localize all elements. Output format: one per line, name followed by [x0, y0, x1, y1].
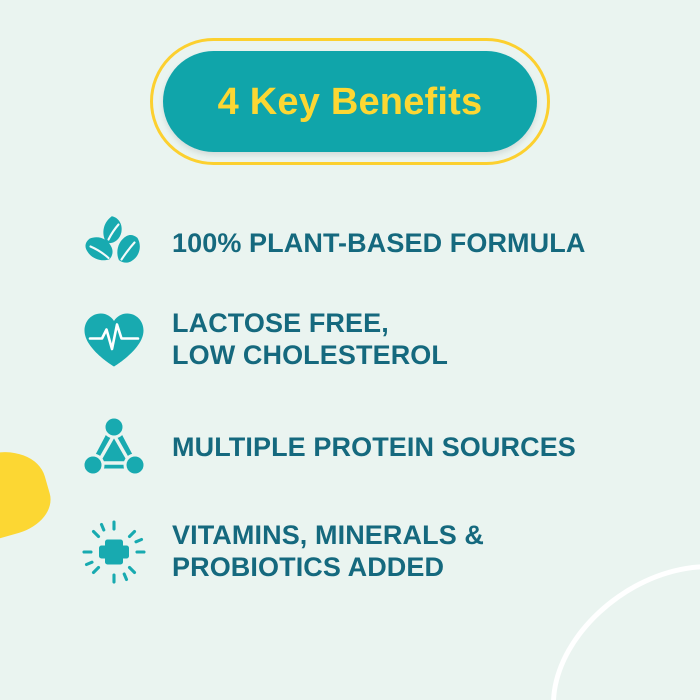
title-badge: 4 Key Benefits	[150, 38, 550, 165]
list-item: LACTOSE FREE, LOW CHOLESTEROL	[78, 304, 448, 376]
title-badge-pill: 4 Key Benefits	[163, 51, 537, 152]
list-item-label: MULTIPLE PROTEIN SOURCES	[172, 432, 576, 464]
white-ellipse-decoration	[510, 520, 700, 700]
sparkle-plus-icon	[78, 516, 150, 588]
molecule-triangle-icon	[78, 412, 150, 484]
list-item: VITAMINS, MINERALS & PROBIOTICS ADDED	[78, 516, 484, 588]
list-item-label: 100% PLANT-BASED FORMULA	[172, 228, 585, 260]
yellow-blob-decoration	[0, 441, 58, 547]
page-title: 4 Key Benefits	[218, 83, 483, 121]
list-item: MULTIPLE PROTEIN SOURCES	[78, 412, 576, 484]
leaves-icon	[78, 208, 150, 280]
list-item-label: VITAMINS, MINERALS & PROBIOTICS ADDED	[172, 520, 484, 583]
list-item-label: LACTOSE FREE, LOW CHOLESTEROL	[172, 308, 448, 371]
heart-pulse-icon	[78, 304, 150, 376]
list-item: 100% PLANT-BASED FORMULA	[78, 208, 585, 280]
benefits-poster: 4 Key Benefits	[0, 0, 700, 700]
